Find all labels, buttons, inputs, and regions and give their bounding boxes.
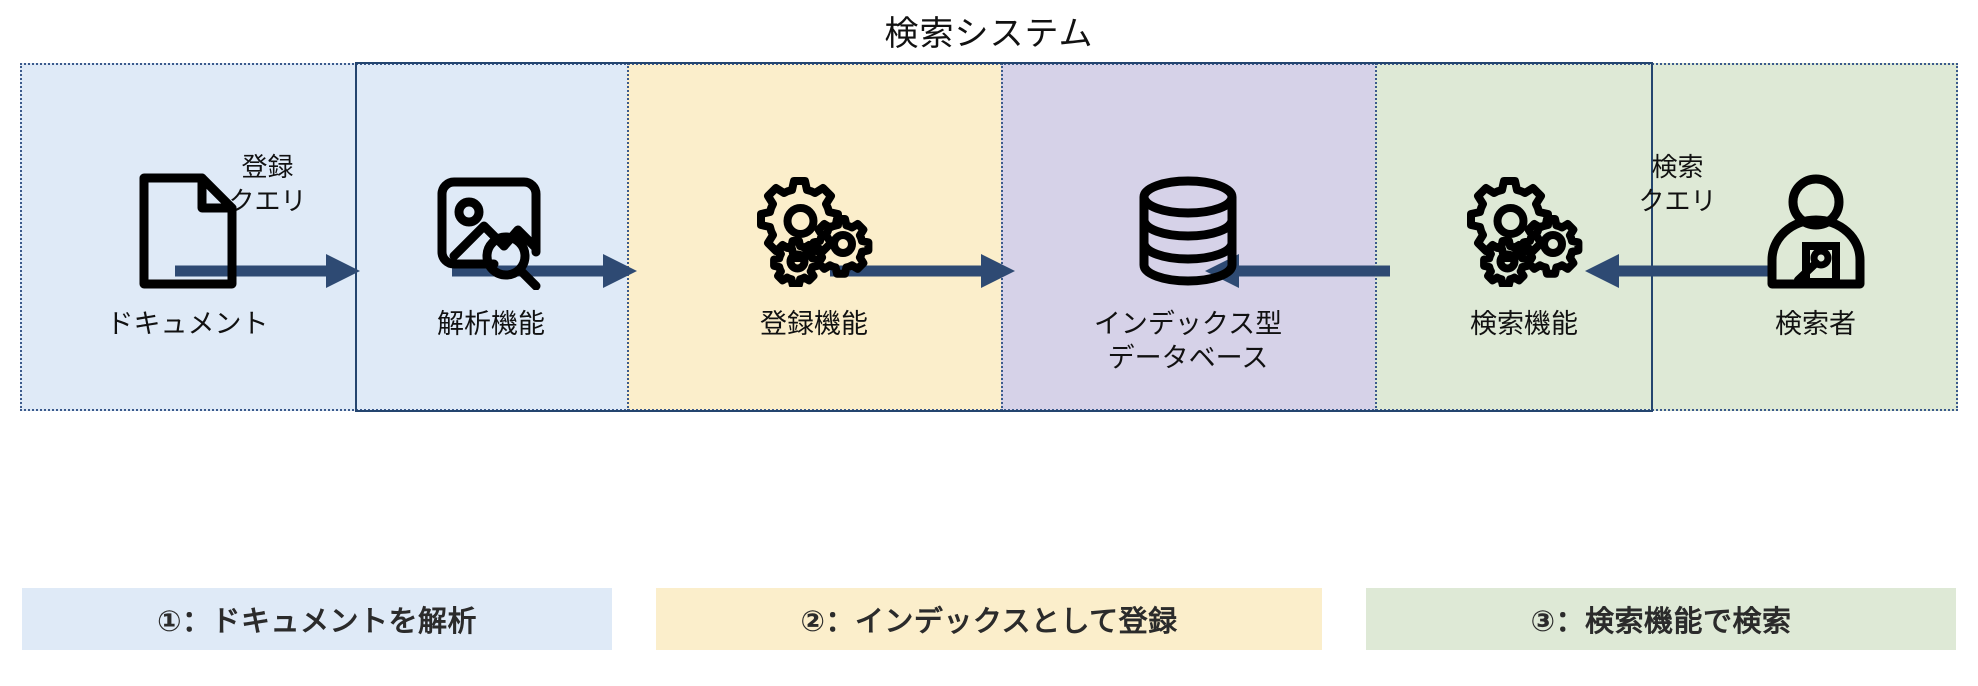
search-system-diagram: 登録 クエリ 検索 クエリ ドキュメント 解析機能	[20, 63, 1958, 411]
node-label-document: ドキュメント	[28, 308, 348, 342]
legend-step-2: ②：インデックスとして登録	[656, 588, 1322, 650]
image-search-icon	[431, 171, 551, 291]
node-searcher: 検索機能	[1375, 63, 1673, 411]
node-analyzer: 解析機能	[355, 63, 627, 411]
gears-icon	[754, 171, 874, 291]
legend-label: ③：検索機能で検索	[1530, 598, 1791, 640]
node-label-database: インデックス型 データベース	[1028, 308, 1348, 376]
node-label-analyzer: 解析機能	[331, 308, 651, 342]
gears-icon	[1464, 171, 1584, 291]
node-user: 検索者	[1673, 63, 1958, 411]
legend-step-3: ③：検索機能で検索	[1366, 588, 1956, 650]
node-label-registrar: 登録機能	[654, 308, 974, 342]
legend-label: ①：ドキュメントを解析	[157, 598, 477, 640]
node-label-searcher: 検索機能	[1364, 308, 1684, 342]
diagram-canvas: 検索システム 登録 クエリ 検索 クエリ ドキュメント	[0, 0, 1978, 686]
person-search-icon	[1756, 171, 1876, 291]
node-registrar: 登録機能	[627, 63, 1001, 411]
database-icon	[1128, 171, 1248, 291]
legend-step-1: ①：ドキュメントを解析	[22, 588, 612, 650]
legend: ①：ドキュメントを解析②：インデックスとして登録③：検索機能で検索	[0, 588, 1978, 656]
legend-label: ②：インデックスとして登録	[800, 598, 1177, 640]
node-label-user: 検索者	[1656, 308, 1976, 342]
node-document: ドキュメント	[20, 63, 355, 411]
page-title: 検索システム	[0, 6, 1978, 55]
node-database: インデックス型 データベース	[1001, 63, 1375, 411]
document-icon	[128, 171, 248, 291]
